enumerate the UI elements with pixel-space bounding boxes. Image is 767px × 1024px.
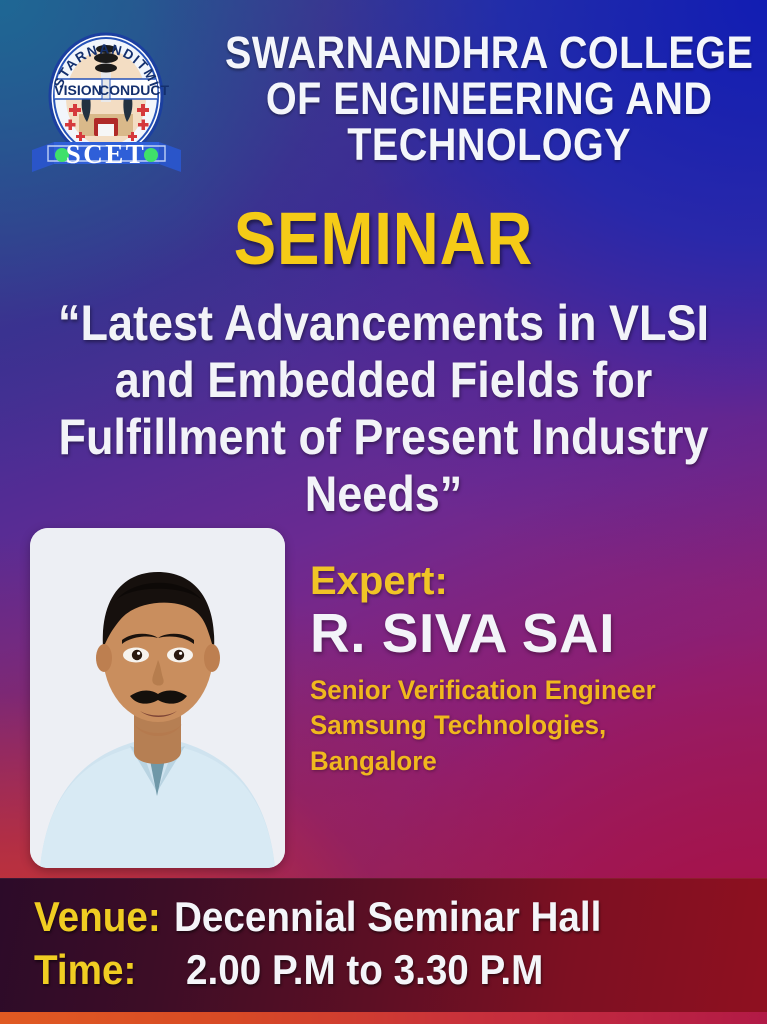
expert-location: Bangalore — [310, 744, 739, 779]
college-name-line-1: SWARNANDHRA COLLEGE — [225, 30, 753, 76]
expert-label: Expert: — [310, 560, 757, 602]
logo-ribbon-text: SCET — [66, 139, 147, 169]
expert-name: R. SIVA SAI — [310, 604, 757, 663]
college-name: SWARNANDHRA COLLEGE OF ENGINEERING AND T… — [225, 22, 753, 168]
logo-banner-right: CONDUCT — [99, 82, 169, 98]
topic-line-1: “Latest Advancements in VLSI — [53, 295, 715, 352]
expert-company: Samsung Technologies, — [310, 708, 739, 743]
speaker-details: Expert: R. SIVA SAI Senior Verification … — [310, 560, 757, 779]
scet-college-logo-icon: STARNANDITMI VISION CONDUCT SCET — [24, 22, 189, 187]
logo-banner-left: VISION — [54, 82, 101, 98]
expert-affiliation: Senior Verification Engineer Samsung Tec… — [310, 673, 739, 778]
topic-line-3: Fulfillment of Present Industry — [53, 409, 715, 466]
speaker-photo — [30, 528, 285, 868]
time-row: Time: 2.00 P.M to 3.30 P.M — [34, 947, 767, 992]
college-name-line-2: OF ENGINEERING AND — [225, 76, 753, 122]
topic-line-2: and Embedded Fields for — [53, 352, 715, 409]
topic-line-4: Needs” — [53, 466, 715, 523]
event-details-bar: Venue: Decennial Seminar Hall Time: 2.00… — [0, 878, 767, 1012]
time-label: Time: — [34, 947, 154, 992]
time-value: 2.00 P.M to 3.30 P.M — [186, 947, 543, 992]
speaker-portrait-illustration — [30, 528, 285, 868]
bottom-accent-strip — [0, 1012, 767, 1024]
venue-label: Venue: — [34, 894, 154, 939]
venue-value: Decennial Seminar Hall — [174, 894, 601, 939]
event-type-title: SEMINAR — [54, 202, 714, 276]
seminar-topic: “Latest Advancements in VLSI and Embedde… — [53, 295, 715, 523]
college-name-line-3: TECHNOLOGY — [225, 122, 753, 168]
expert-designation: Senior Verification Engineer — [310, 673, 739, 708]
venue-row: Venue: Decennial Seminar Hall — [34, 894, 767, 939]
poster-header: STARNANDITMI VISION CONDUCT SCET SWARNAN… — [0, 22, 767, 187]
seminar-poster: STARNANDITMI VISION CONDUCT SCET SWARNAN… — [0, 0, 767, 1024]
